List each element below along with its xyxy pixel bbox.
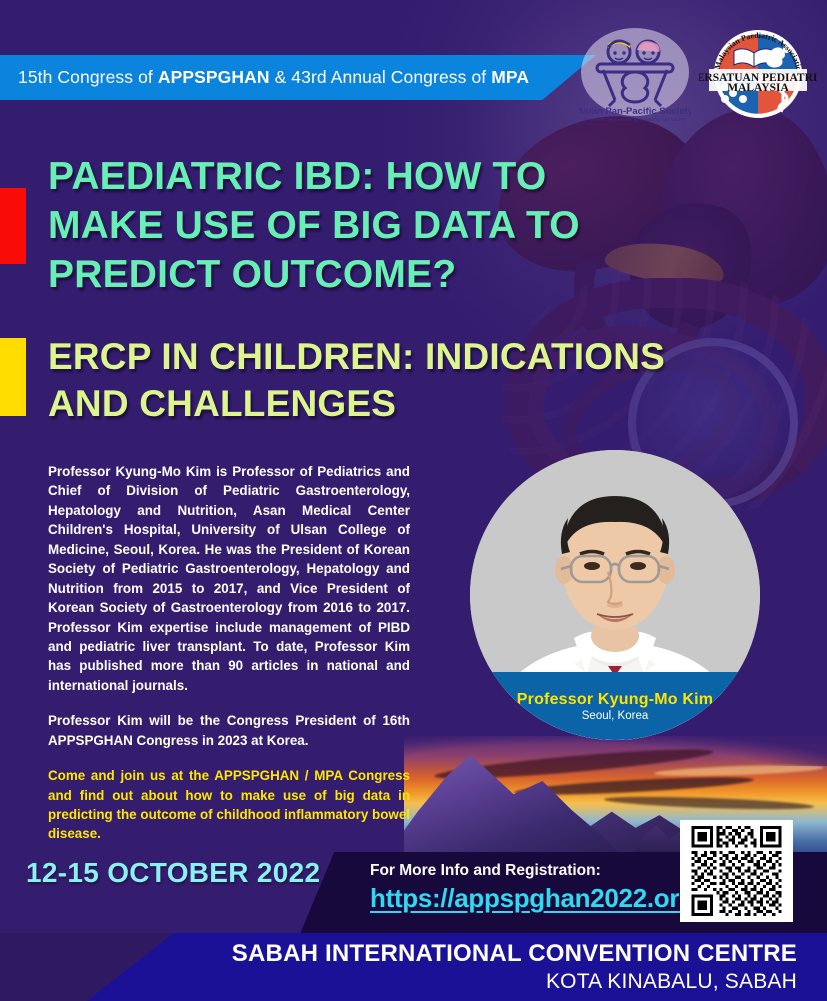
speaker-name-band: Professor Kyung-Mo Kim Seoul, Korea bbox=[470, 672, 760, 740]
conference-poster: 15th Congress of APPSPGHAN & 43rd Annual… bbox=[0, 0, 827, 1001]
mpa-logo-icon: Malaysian Paediatric Association PERSATU… bbox=[699, 25, 817, 123]
bio-paragraph-1: Professor Kyung-Mo Kim is Professor of P… bbox=[48, 462, 410, 695]
venue-city: KOTA KINABALU, SABAH bbox=[232, 969, 797, 995]
registration-url-link[interactable]: https://appspghan2022.org/ bbox=[370, 883, 702, 914]
accent-bar-yellow bbox=[0, 338, 26, 416]
svg-text:Asian Pan-Pacific Society: Asian Pan-Pacific Society bbox=[579, 106, 691, 117]
speaker-biography: Professor Kyung-Mo Kim is Professor of P… bbox=[48, 462, 410, 844]
congress-header-text: 15th Congress of APPSPGHAN & 43rd Annual… bbox=[0, 67, 529, 88]
header-org-appspghan: APPSPGHAN bbox=[158, 67, 270, 87]
venue-text-group: SABAH INTERNATIONAL CONVENTION CENTRE KO… bbox=[232, 939, 797, 995]
speaker-city: Seoul, Korea bbox=[582, 710, 649, 722]
bio-paragraph-2: Professor Kim will be the Congress Presi… bbox=[48, 711, 410, 750]
scenery-fade-mask bbox=[404, 736, 827, 766]
svg-text:of Pediatric Gastroenterology,: of Pediatric Gastroenterology, Hepatolog… bbox=[584, 117, 687, 122]
header-prefix: 15th Congress of bbox=[18, 67, 158, 87]
congress-date: 12-15 OCTOBER 2022 bbox=[26, 857, 320, 889]
speaker-photo: Professor Kyung-Mo Kim Seoul, Korea bbox=[470, 450, 760, 740]
header-middle: & 43rd Annual Congress of bbox=[270, 67, 492, 87]
speaker-name: Professor Kyung-Mo Kim bbox=[517, 691, 713, 709]
header-org-mpa: MPA bbox=[491, 67, 529, 87]
bio-call-to-action: Come and join us at the APPSPGHAN / MPA … bbox=[48, 766, 410, 844]
logo-group: Asian Pan-Pacific Society of Pediatric G… bbox=[579, 24, 819, 124]
venue-name: SABAH INTERNATIONAL CONVENTION CENTRE bbox=[232, 939, 797, 968]
accent-bar-red bbox=[0, 188, 26, 264]
appspghan-logo-icon: Asian Pan-Pacific Society of Pediatric G… bbox=[579, 26, 691, 122]
lecture-title-secondary: ERCP IN CHILDREN: INDICATIONS AND CHALLE… bbox=[48, 334, 708, 428]
congress-header-bar: 15th Congress of APPSPGHAN & 43rd Annual… bbox=[0, 55, 596, 100]
registration-label: For More Info and Registration: bbox=[370, 862, 601, 880]
mpa-logo: Malaysian Paediatric Association PERSATU… bbox=[699, 25, 817, 123]
qr-code[interactable] bbox=[680, 820, 793, 922]
lecture-title-primary: PAEDIATRIC IBD: HOW TO MAKE USE OF BIG D… bbox=[48, 152, 658, 299]
svg-text:MALAYSIA: MALAYSIA bbox=[727, 82, 789, 94]
qr-code-image bbox=[686, 826, 787, 916]
appspghan-logo: Asian Pan-Pacific Society of Pediatric G… bbox=[579, 26, 691, 122]
